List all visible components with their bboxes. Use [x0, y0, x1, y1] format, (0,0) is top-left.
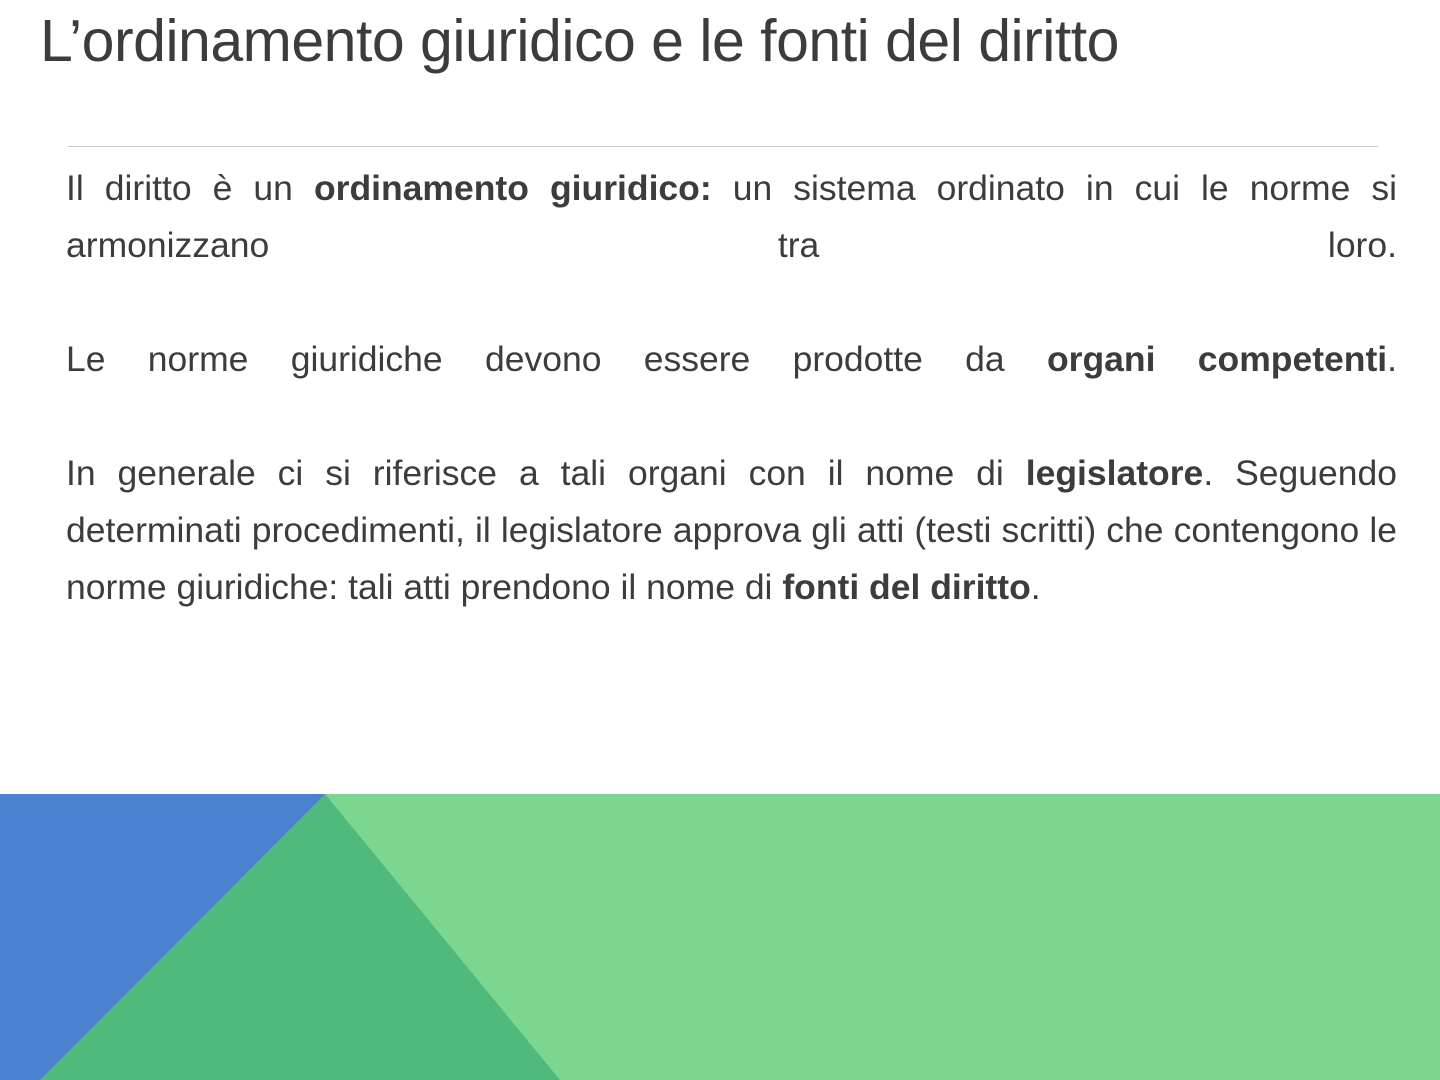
body-run-plain: In generale ci si riferisce a tali organ… [66, 453, 1026, 493]
body-paragraph-3: In generale ci si riferisce a tali organ… [66, 445, 1397, 616]
slide: L’ordinamento giuridico e le fonti del d… [0, 0, 1440, 1080]
footer-decoration [0, 794, 1440, 1080]
body-run-plain: . [1387, 339, 1397, 379]
body-run-bold: ordinamento giuridico: [314, 168, 712, 208]
body-run-plain: Le norme giuridiche devono essere prodot… [66, 339, 1047, 379]
title-divider [68, 146, 1378, 147]
body-run-bold: legislatore [1026, 453, 1204, 493]
body-run-bold: organi competenti [1047, 339, 1387, 379]
body-paragraph-1: Il diritto è un ordinamento giuridico: u… [66, 160, 1397, 331]
body-run-plain: . [1031, 567, 1041, 607]
slide-title: L’ordinamento giuridico e le fonti del d… [40, 8, 1410, 74]
body-run-plain: Il diritto è un [66, 168, 314, 208]
body-run-bold: fonti del diritto [782, 567, 1030, 607]
body-paragraph-2: Le norme giuridiche devono essere prodot… [66, 331, 1397, 445]
slide-body: Il diritto è un ordinamento giuridico: u… [66, 160, 1397, 616]
footer-triangles-graphic [0, 794, 1440, 1080]
